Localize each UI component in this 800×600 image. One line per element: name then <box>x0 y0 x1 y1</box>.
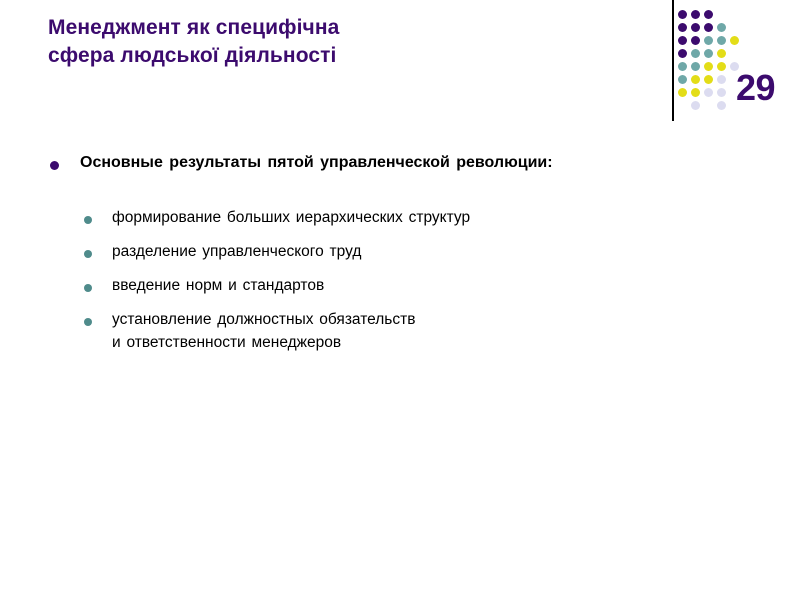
bullet-marker-level2-icon <box>84 250 92 258</box>
dot-purple <box>691 36 700 45</box>
dot-purple <box>678 10 687 19</box>
bullet-marker-level2-icon <box>84 318 92 326</box>
vertical-divider <box>672 0 674 121</box>
dot-lavender <box>717 101 726 110</box>
slide-content: Основные результаты пятой управленческой… <box>0 150 800 362</box>
dot-purple <box>678 49 687 58</box>
sub-bullet-item: формирование больших иерархических струк… <box>0 206 800 232</box>
sub-bullet-text: установление должностных обязательстви о… <box>112 308 800 354</box>
sub-bullet-item: введение норм и стандартов <box>0 274 800 300</box>
dot-yellow <box>691 75 700 84</box>
dot-purple <box>678 23 687 32</box>
bullet-marker-level2-icon <box>84 216 92 224</box>
sub-bullet-text-line: введение норм и стандартов <box>112 274 800 297</box>
sub-bullet-text: введение норм и стандартов <box>112 274 800 297</box>
sub-bullet-text: формирование больших иерархических струк… <box>112 206 800 229</box>
sub-bullet-text-line: установление должностных обязательств <box>112 308 800 331</box>
dot-lavender <box>691 101 700 110</box>
dot-purple <box>691 23 700 32</box>
bullet-marker-level2-icon <box>84 284 92 292</box>
slide-logo: 29 <box>660 0 800 130</box>
dot-yellow <box>717 49 726 58</box>
sub-bullet-text-line: формирование больших иерархических струк… <box>112 206 800 229</box>
dot-lavender <box>704 88 713 97</box>
sub-bullet-text-line: разделение управленческого труд <box>112 240 800 263</box>
page-title: Менеджмент як специфічна сфера людської … <box>48 14 648 70</box>
sub-bullet-list: формирование больших иерархических струк… <box>0 206 800 354</box>
main-bullet-item: Основные результаты пятой управленческой… <box>0 150 800 180</box>
dot-teal <box>704 36 713 45</box>
dot-purple <box>704 23 713 32</box>
dot-yellow <box>691 88 700 97</box>
dot-yellow <box>730 36 739 45</box>
dot-teal <box>678 62 687 71</box>
dot-yellow <box>704 62 713 71</box>
slide-canvas: Менеджмент як специфічна сфера людської … <box>0 0 800 600</box>
dot-yellow <box>704 75 713 84</box>
title-line-1: Менеджмент як специфічна <box>48 14 648 42</box>
dot-purple <box>704 10 713 19</box>
dot-teal <box>704 49 713 58</box>
sub-bullet-item: установление должностных обязательстви о… <box>0 308 800 354</box>
dot-teal <box>678 75 687 84</box>
dot-yellow <box>717 62 726 71</box>
dot-teal <box>717 36 726 45</box>
dot-teal <box>691 49 700 58</box>
dot-purple <box>691 10 700 19</box>
main-bullet-text: Основные результаты пятой управленческой… <box>80 154 553 171</box>
dot-grid-decoration-icon <box>678 10 742 114</box>
dot-yellow <box>678 88 687 97</box>
dot-purple <box>678 36 687 45</box>
bullet-marker-level1-icon <box>50 161 59 170</box>
sub-bullet-item: разделение управленческого труд <box>0 240 800 266</box>
title-line-2: сфера людської діяльності <box>48 42 648 70</box>
sub-bullet-text-line: и ответственности менеджеров <box>112 331 800 354</box>
dot-teal <box>717 23 726 32</box>
dot-teal <box>691 62 700 71</box>
dot-lavender <box>717 88 726 97</box>
sub-bullet-text: разделение управленческого труд <box>112 240 800 263</box>
dot-lavender <box>717 75 726 84</box>
page-number: 29 <box>736 70 775 106</box>
